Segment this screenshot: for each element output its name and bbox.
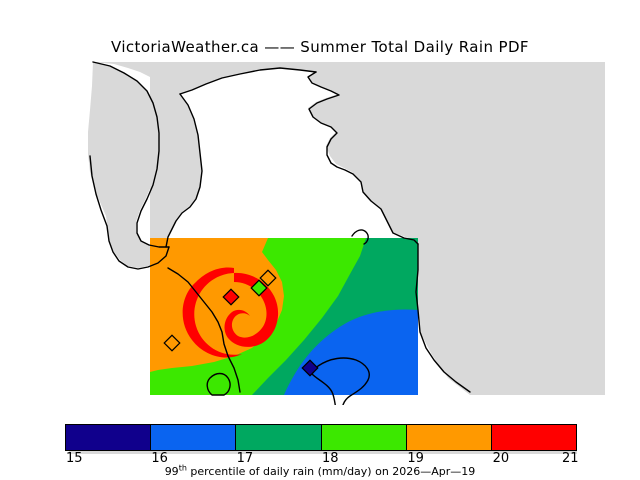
colorbar-tick-21: 21 xyxy=(562,451,579,466)
colorbar-segment-19-20[interactable] xyxy=(407,425,492,450)
colorbar-area: 15 16 17 18 19 20 21 99th percentile of … xyxy=(0,418,640,480)
colorbar-tick-18: 18 xyxy=(322,451,339,466)
colorbar-segment-20-21[interactable] xyxy=(492,425,576,450)
colorbar[interactable] xyxy=(65,424,577,451)
caption-text: percentile of daily rain (mm/day) on 202… xyxy=(187,465,475,478)
colorbar-tick-16: 16 xyxy=(151,451,168,466)
colorbar-tick-20: 20 xyxy=(493,451,510,466)
colorbar-caption: 99th percentile of daily rain (mm/day) o… xyxy=(0,465,640,478)
contour-field xyxy=(150,238,418,405)
colorbar-tick-17: 17 xyxy=(237,451,254,466)
caption-percentile-suffix: th xyxy=(179,463,187,472)
caption-percentile-number: 99 xyxy=(165,465,179,478)
map-figure xyxy=(0,60,640,405)
colorbar-tick-19: 19 xyxy=(407,451,424,466)
colorbar-segment-16-17[interactable] xyxy=(151,425,236,450)
colorbar-segment-15-16[interactable] xyxy=(66,425,151,450)
weather-map-page: VictoriaWeather.ca —— Summer Total Daily… xyxy=(0,0,640,480)
map-canvas xyxy=(0,60,640,405)
colorbar-segment-18-19[interactable] xyxy=(322,425,407,450)
colorbar-tick-15: 15 xyxy=(66,451,83,466)
page-title: VictoriaWeather.ca —— Summer Total Daily… xyxy=(0,38,640,56)
colorbar-segment-17-18[interactable] xyxy=(236,425,321,450)
